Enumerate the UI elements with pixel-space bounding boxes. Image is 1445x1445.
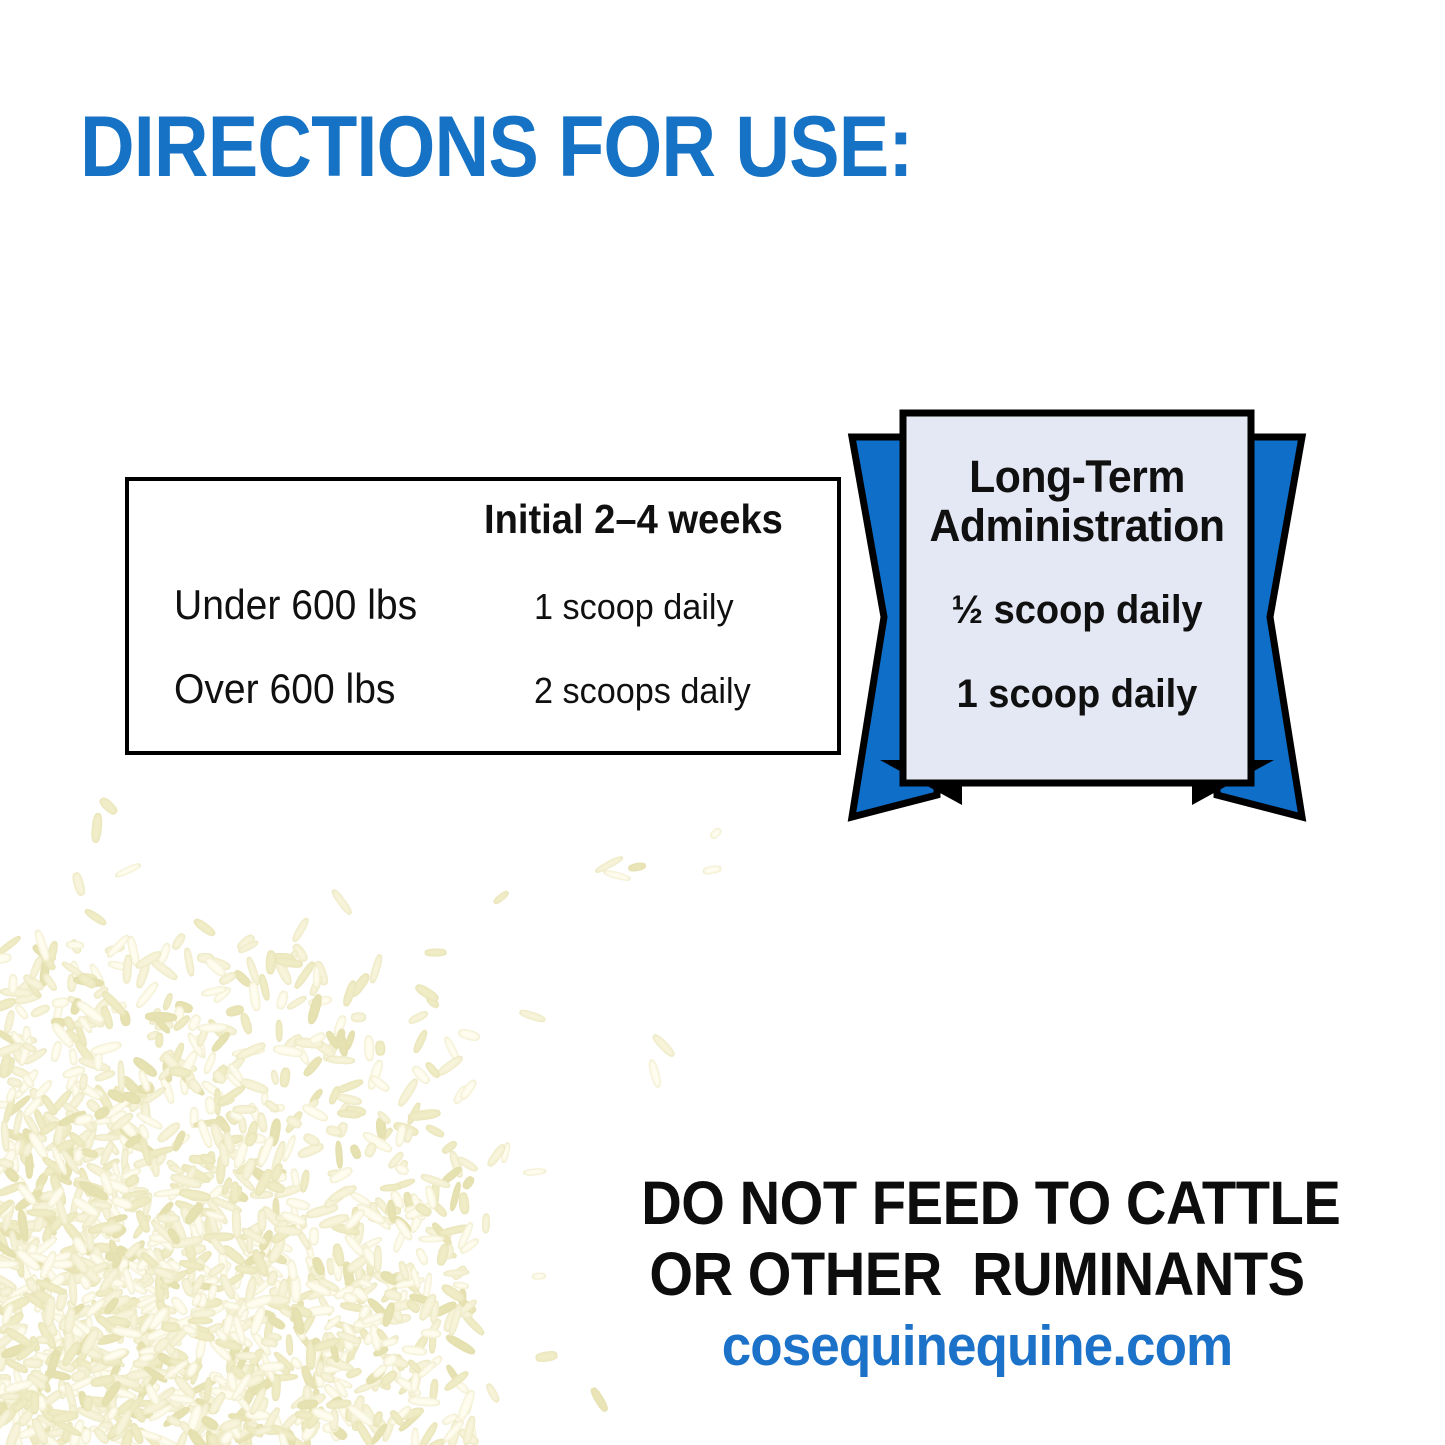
- granule: [416, 1292, 438, 1323]
- granule: [145, 1145, 176, 1160]
- granule: [61, 1219, 88, 1249]
- granule: [268, 1286, 283, 1298]
- granule: [88, 1251, 109, 1271]
- granule: [208, 1235, 228, 1257]
- granule: [194, 1156, 223, 1177]
- granule: [163, 1215, 173, 1234]
- granule: [22, 1111, 42, 1136]
- granule: [401, 1344, 427, 1356]
- granule: [270, 1140, 288, 1174]
- granule: [0, 1155, 11, 1177]
- granule: [15, 1258, 35, 1286]
- granule: [368, 1211, 393, 1232]
- granule: [116, 1244, 136, 1263]
- granule: [9, 1323, 29, 1343]
- granule: [351, 1012, 366, 1023]
- granule: [345, 1367, 363, 1380]
- granule: [118, 1123, 147, 1146]
- granule: [89, 1360, 104, 1380]
- granule: [20, 1386, 32, 1410]
- granule: [44, 1136, 66, 1152]
- granule: [228, 1109, 245, 1123]
- granule: [310, 1405, 337, 1424]
- granule: [133, 1359, 150, 1369]
- granule: [361, 1129, 394, 1154]
- granule: [111, 1245, 127, 1271]
- granule: [311, 1348, 321, 1367]
- granule: [67, 974, 77, 992]
- granule: [392, 1353, 406, 1372]
- granule: [232, 1312, 261, 1337]
- granule: [108, 1278, 125, 1287]
- granule: [170, 1235, 203, 1250]
- granule: [129, 1409, 152, 1420]
- granule: [271, 1278, 292, 1302]
- granule: [36, 1399, 58, 1424]
- granule: [207, 1433, 221, 1445]
- granule: [413, 1198, 427, 1222]
- granule: [43, 1295, 57, 1328]
- granule: [451, 1083, 471, 1106]
- granule: [157, 1402, 185, 1413]
- granule: [327, 1375, 353, 1390]
- granule: [201, 954, 232, 972]
- granule: [255, 1257, 285, 1280]
- granule: [368, 1073, 391, 1093]
- granule: [172, 1182, 190, 1198]
- granule: [94, 1115, 114, 1125]
- granule: [35, 1394, 49, 1412]
- granule: [27, 1275, 54, 1303]
- granule: [131, 1213, 153, 1240]
- granule: [121, 1144, 130, 1163]
- granule: [155, 1020, 174, 1031]
- granule: [453, 1281, 470, 1291]
- granule: [188, 1418, 209, 1440]
- granule: [92, 1363, 123, 1389]
- granule: [366, 1257, 375, 1276]
- granule: [59, 1208, 80, 1227]
- granule: [145, 1247, 161, 1267]
- granule: [290, 1306, 307, 1336]
- granule: [73, 1430, 89, 1445]
- granule: [113, 1311, 136, 1342]
- granule: [145, 1011, 178, 1022]
- granule: [57, 1316, 72, 1333]
- granule: [117, 1273, 148, 1296]
- granule: [273, 1217, 291, 1234]
- granule: [42, 1409, 52, 1433]
- granule: [127, 935, 142, 967]
- granule: [183, 1069, 197, 1090]
- granule: [231, 1375, 242, 1395]
- granule: [225, 1351, 246, 1359]
- granule: [3, 1166, 21, 1185]
- granule: [117, 1298, 128, 1320]
- granule: [429, 1300, 440, 1324]
- granule: [426, 1354, 444, 1371]
- granule: [313, 1346, 325, 1375]
- granule: [49, 1202, 66, 1221]
- granule: [29, 1416, 49, 1445]
- granule: [135, 1080, 155, 1101]
- granule: [15, 1390, 45, 1405]
- granule: [0, 1392, 25, 1410]
- granule: [228, 1329, 255, 1350]
- granule: [356, 1277, 373, 1289]
- granule: [243, 1130, 259, 1148]
- granule: [105, 1379, 118, 1411]
- granule: [230, 1187, 250, 1204]
- granule: [279, 1067, 292, 1088]
- granule: [296, 1311, 317, 1339]
- granule: [74, 1229, 101, 1250]
- granule: [269, 1103, 285, 1114]
- granule: [104, 943, 125, 955]
- granule: [261, 1336, 279, 1348]
- granule: [192, 1416, 199, 1439]
- granule: [8, 1029, 28, 1053]
- granule: [273, 1240, 294, 1255]
- granule: [442, 1268, 469, 1277]
- granule: [194, 1034, 207, 1059]
- granule: [67, 1250, 90, 1276]
- granule: [240, 1156, 258, 1181]
- granule: [217, 1317, 247, 1341]
- granule: [16, 1138, 27, 1155]
- granule: [390, 1353, 402, 1383]
- granule: [208, 1370, 224, 1383]
- granule: [168, 1041, 186, 1072]
- granule: [143, 1365, 170, 1386]
- granule: [254, 1408, 268, 1422]
- granule: [204, 1216, 217, 1244]
- dosage-row-value-under-600: 1 scoop daily: [534, 586, 734, 628]
- granule: [144, 1324, 173, 1344]
- granule: [133, 1427, 162, 1442]
- website-link[interactable]: cosequinequine.com: [638, 1313, 1317, 1379]
- granule: [207, 1283, 219, 1301]
- granule: [21, 1220, 37, 1246]
- granule: [258, 1209, 267, 1231]
- granule: [403, 1127, 415, 1144]
- granule: [49, 1144, 69, 1177]
- granule: [12, 1250, 43, 1262]
- granule: [420, 1172, 452, 1189]
- banner-title: Long-Term Administration: [912, 453, 1243, 550]
- granule: [235, 1291, 257, 1319]
- granule: [238, 1116, 248, 1134]
- granule: [244, 1421, 265, 1438]
- granule: [384, 1270, 397, 1299]
- granule: [0, 1346, 7, 1373]
- granule: [328, 1165, 354, 1186]
- granule: [183, 947, 196, 977]
- granule: [94, 1313, 121, 1337]
- granule: [59, 1242, 85, 1257]
- granule: [164, 1389, 191, 1398]
- granule: [216, 1276, 242, 1304]
- granule: [221, 1313, 235, 1337]
- granule: [165, 1414, 183, 1429]
- granule: [136, 1376, 159, 1402]
- granule: [89, 1425, 109, 1434]
- granule: [267, 953, 294, 963]
- granule: [135, 959, 152, 989]
- granule: [383, 1287, 403, 1302]
- granule: [62, 1065, 87, 1080]
- granule: [137, 1341, 147, 1361]
- granule: [326, 1258, 335, 1276]
- granule: [37, 1429, 64, 1445]
- granule: [322, 1314, 343, 1333]
- granule: [148, 956, 179, 982]
- granule: [404, 1203, 428, 1214]
- granule: [231, 1133, 248, 1149]
- granule: [11, 1109, 23, 1136]
- granule: [85, 1316, 93, 1335]
- granule: [184, 1287, 204, 1301]
- granule: [409, 1192, 426, 1218]
- granule: [334, 1141, 343, 1169]
- granule: [219, 1242, 247, 1267]
- granule: [0, 1296, 14, 1314]
- granule: [310, 1037, 337, 1060]
- granule: [2, 1009, 16, 1035]
- granule: [31, 1273, 43, 1303]
- granule: [159, 1243, 176, 1261]
- granule: [1, 1094, 17, 1125]
- granule: [79, 1327, 101, 1357]
- granule: [131, 1054, 160, 1079]
- granule: [90, 1266, 123, 1282]
- granule: [113, 1295, 139, 1315]
- granule: [39, 1299, 62, 1321]
- granule: [414, 1246, 430, 1266]
- granule: [181, 1323, 198, 1336]
- granule: [218, 1054, 247, 1083]
- granule: [334, 1398, 355, 1429]
- granule: [21, 972, 45, 992]
- granule: [115, 1396, 138, 1417]
- granule: [238, 1076, 270, 1096]
- granule: [33, 1215, 46, 1233]
- granule: [132, 1248, 161, 1274]
- granule: [195, 1025, 211, 1048]
- granule: [38, 956, 51, 986]
- granule: [114, 1417, 134, 1437]
- granule: [206, 1210, 220, 1238]
- granule: [53, 1120, 66, 1146]
- granule: [61, 1421, 75, 1443]
- granule: [46, 1088, 73, 1118]
- granule: [50, 1041, 64, 1063]
- granule: [188, 1321, 197, 1337]
- granule: [36, 1391, 58, 1419]
- granule: [275, 1020, 283, 1042]
- granule: [194, 1337, 207, 1360]
- granule: [31, 1217, 49, 1232]
- granule: [455, 1388, 477, 1422]
- granule: [259, 1204, 284, 1230]
- granule: [80, 1146, 106, 1166]
- granule: [47, 1303, 66, 1320]
- granule: [20, 1126, 47, 1154]
- granule: [145, 1267, 176, 1276]
- granule: [410, 1370, 422, 1393]
- granule: [342, 1278, 370, 1304]
- granule: [233, 1105, 257, 1114]
- granule: [78, 1255, 108, 1278]
- granule: [194, 1396, 219, 1416]
- granule: [155, 1257, 179, 1280]
- granule: [27, 1251, 52, 1265]
- granule: [151, 1014, 172, 1036]
- granule: [209, 1030, 232, 1054]
- granule: [90, 1300, 104, 1325]
- granule: [399, 1273, 421, 1296]
- granule: [447, 1303, 464, 1337]
- granule: [444, 1363, 462, 1386]
- granule: [234, 1343, 245, 1364]
- granule: [102, 1296, 120, 1316]
- granule: [5, 1225, 21, 1240]
- granule: [349, 1271, 374, 1291]
- granule: [76, 1303, 93, 1319]
- granule: [353, 1376, 385, 1395]
- granule: [368, 953, 384, 984]
- granule: [34, 1369, 48, 1391]
- granule: [38, 1189, 61, 1202]
- granule: [218, 1428, 236, 1445]
- granule: [0, 1281, 10, 1297]
- granule: [203, 1377, 213, 1403]
- granule: [192, 1401, 210, 1433]
- granule: [25, 1371, 54, 1399]
- granule: [329, 1409, 339, 1432]
- granule: [65, 1089, 87, 1113]
- granule: [424, 1225, 452, 1242]
- granule: [139, 1301, 156, 1315]
- granule: [117, 1374, 145, 1395]
- granule: [134, 1209, 152, 1235]
- granule: [44, 1344, 66, 1367]
- granule: [71, 871, 87, 897]
- granule: [2, 1400, 22, 1425]
- granule: [242, 1249, 267, 1269]
- dosage-table-column-header: Initial 2–4 weeks: [484, 496, 783, 543]
- granule: [326, 1353, 346, 1379]
- granule: [60, 1301, 85, 1323]
- granule: [54, 1197, 70, 1226]
- granule: [287, 1259, 299, 1281]
- granule: [18, 1205, 27, 1233]
- granule: [336, 1092, 362, 1106]
- granule: [0, 1238, 18, 1261]
- granule: [343, 1335, 363, 1364]
- granule: [185, 1265, 197, 1296]
- granule: [299, 1389, 310, 1422]
- granule: [71, 1233, 85, 1266]
- granule: [183, 1216, 206, 1228]
- granule: [296, 1288, 315, 1302]
- granule: [6, 1383, 39, 1395]
- granule: [156, 1350, 175, 1367]
- granule: [393, 1217, 415, 1243]
- granule: [66, 1316, 98, 1340]
- granule: [65, 1149, 85, 1167]
- granule: [135, 1344, 162, 1355]
- granule: [79, 1205, 103, 1232]
- granule: [367, 1214, 394, 1226]
- granule: [447, 1420, 462, 1445]
- granule: [4, 1404, 19, 1420]
- granule: [65, 1064, 84, 1092]
- granule: [21, 1095, 44, 1120]
- granule: [89, 1200, 112, 1211]
- granule: [205, 1420, 229, 1438]
- granule: [20, 1402, 37, 1416]
- granule: [439, 1282, 466, 1305]
- granule: [396, 1158, 410, 1175]
- granule: [123, 1134, 141, 1150]
- granule: [84, 1297, 108, 1320]
- granule: [357, 1280, 379, 1299]
- granule: [40, 1347, 63, 1369]
- granule: [0, 1294, 32, 1317]
- granule: [152, 1217, 161, 1233]
- granule: [43, 1337, 65, 1362]
- granule: [334, 1120, 349, 1138]
- granule: [226, 1331, 245, 1362]
- granule: [77, 1167, 93, 1198]
- granule: [57, 1109, 88, 1128]
- granule: [430, 1200, 449, 1219]
- granule: [101, 1355, 122, 1365]
- granule: [603, 869, 632, 883]
- granule: [30, 1234, 59, 1259]
- granule: [307, 1420, 323, 1440]
- granule: [87, 962, 107, 990]
- granule: [203, 1209, 227, 1223]
- granule: [22, 1045, 49, 1066]
- granule: [3, 1325, 34, 1349]
- granule: [35, 1413, 56, 1429]
- granule: [21, 1236, 40, 1244]
- granule: [292, 1398, 318, 1428]
- granule: [21, 1141, 34, 1158]
- granule: [99, 1005, 115, 1031]
- granule: [466, 1420, 476, 1441]
- granule: [388, 1188, 406, 1211]
- granule: [154, 1151, 168, 1167]
- granule: [225, 1371, 238, 1392]
- granule: [0, 1322, 28, 1332]
- granule: [442, 1369, 470, 1393]
- granule: [97, 1265, 121, 1293]
- granule: [226, 1062, 245, 1084]
- granule: [50, 1416, 83, 1438]
- granule: [96, 1366, 117, 1379]
- granule: [207, 1391, 227, 1417]
- granule: [10, 1391, 36, 1411]
- granule: [407, 1357, 432, 1375]
- granule: [9, 974, 18, 994]
- granule: [74, 1176, 93, 1188]
- granule: [64, 1328, 74, 1360]
- granule: [412, 1333, 430, 1354]
- granule: [259, 1144, 272, 1164]
